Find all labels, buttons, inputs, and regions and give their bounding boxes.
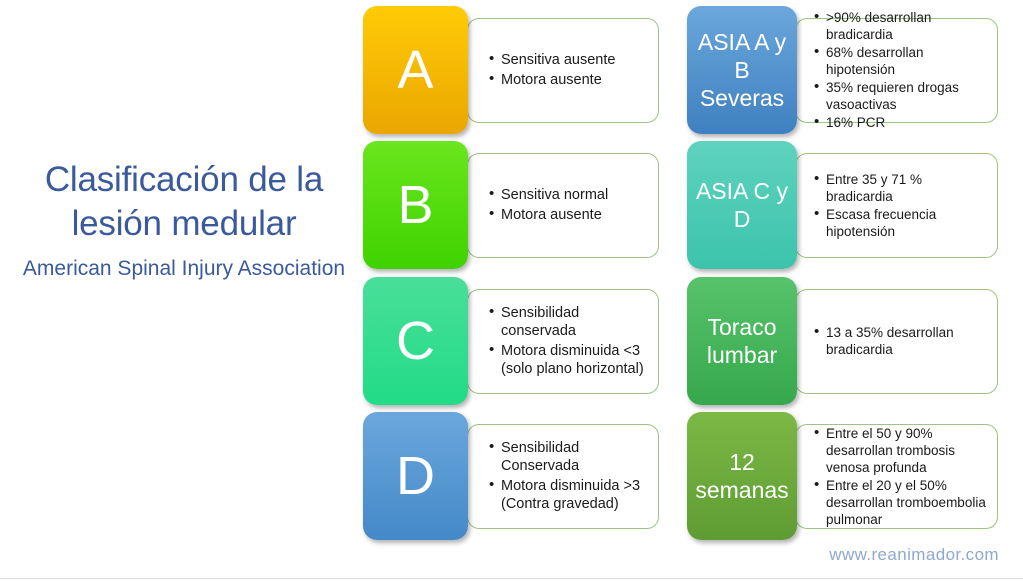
classification-row-a: A Sensitiva ausenteMotora ausente [363, 6, 659, 134]
page-title-subtitle: American Spinal Injury Association [0, 255, 368, 283]
complication-card-toraco-lumbar: 13 a 35% desarrollan bradicardia [795, 289, 998, 394]
bullet-item: 13 a 35% desarrollan bradicardia [816, 324, 987, 358]
bullet-item: Sensibilidad conservada [491, 304, 648, 341]
complication-bullets-asia-ab: >90% desarrollan bradicardia68% desarrol… [796, 9, 997, 132]
complication-chip-12-semanas: 12 semanas [687, 412, 797, 540]
classification-row-b: B Sensitiva normalMotora ausente [363, 141, 659, 269]
classification-row-d: D Sensibilidad ConservadaMotora disminui… [363, 412, 659, 540]
complication-chip-asia-ab: ASIA A y B Severas [687, 6, 797, 134]
site-watermark: www.reanimador.com [829, 545, 999, 565]
bullet-item: Motora ausente [491, 206, 648, 225]
grade-chip-d: D [363, 412, 468, 540]
grade-chip-b-label: B [397, 176, 433, 234]
complication-bullets-toraco-lumbar: 13 a 35% desarrollan bradicardia [796, 324, 997, 359]
complication-bullets-12-semanas: Entre el 50 y 90% desarrollan trombosis … [796, 425, 997, 529]
complication-chip-asia-cd: ASIA C y D [687, 141, 797, 269]
bullet-item: 35% requieren drogas vasoactivas [816, 79, 987, 113]
complication-chip-toraco-lumbar-label: Toraco lumbar [687, 313, 797, 369]
bullet-item: Entre el 50 y 90% desarrollan trombosis … [816, 425, 987, 476]
bullet-item: Motora disminuida <3 (solo plano horizon… [491, 342, 648, 379]
grade-chip-a-label: A [397, 41, 433, 99]
bullet-item: Entre el 20 y el 50% desarrollan tromboe… [816, 477, 987, 528]
bullet-item: Sensibilidad Conservada [491, 439, 648, 476]
bullet-item: 68% desarrollan hipotensión [816, 44, 987, 78]
complication-chip-toraco-lumbar: Toraco lumbar [687, 277, 797, 405]
grade-card-d: Sensibilidad ConservadaMotora disminuida… [467, 424, 659, 529]
complication-row-asia-ab: ASIA A y B Severas >90% desarrollan brad… [687, 6, 998, 134]
grade-bullets-b: Sensitiva normalMotora ausente [468, 186, 658, 225]
classification-row-c: C Sensibilidad conservadaMotora disminui… [363, 277, 659, 405]
complication-card-asia-ab: >90% desarrollan bradicardia68% desarrol… [795, 18, 998, 123]
grade-card-b: Sensitiva normalMotora ausente [467, 153, 659, 258]
bullet-item: Entre 35 y 71 % bradicardia [816, 171, 987, 205]
grade-bullets-c: Sensibilidad conservadaMotora disminuida… [468, 304, 658, 380]
bullet-item: Motora disminuida >3 (Contra gravedad) [491, 477, 648, 514]
bullet-item: Sensitiva ausente [491, 51, 648, 70]
grade-chip-c-label: C [396, 312, 435, 370]
grade-chip-d-label: D [396, 447, 435, 505]
grade-chip-a: A [363, 6, 468, 134]
complication-row-12-semanas: 12 semanas Entre el 50 y 90% desarrollan… [687, 412, 998, 540]
complication-row-toraco-lumbar: Toraco lumbar 13 a 35% desarrollan bradi… [687, 277, 998, 405]
complication-card-12-semanas: Entre el 50 y 90% desarrollan trombosis … [795, 424, 998, 529]
grade-card-a: Sensitiva ausenteMotora ausente [467, 18, 659, 123]
grade-bullets-d: Sensibilidad ConservadaMotora disminuida… [468, 439, 658, 515]
grade-chip-b: B [363, 141, 468, 269]
bullet-item: 16% PCR [816, 114, 987, 131]
bullet-item: >90% desarrollan bradicardia [816, 9, 987, 43]
page-title-main: Clasificación de la lesión medular [0, 158, 368, 246]
grade-bullets-a: Sensitiva ausenteMotora ausente [468, 51, 658, 90]
grade-chip-c: C [363, 277, 468, 405]
bullet-item: Sensitiva normal [491, 186, 648, 205]
grade-card-c: Sensibilidad conservadaMotora disminuida… [467, 289, 659, 394]
page-title: Clasificación de la lesión medular Ameri… [0, 158, 368, 283]
bottom-divider [0, 578, 1023, 579]
complication-bullets-asia-cd: Entre 35 y 71 % bradicardiaEscasa frecue… [796, 171, 997, 241]
complication-chip-asia-cd-label: ASIA C y D [687, 177, 797, 233]
complication-row-asia-cd: ASIA C y D Entre 35 y 71 % bradicardiaEs… [687, 141, 998, 269]
complication-chip-asia-ab-label: ASIA A y B Severas [687, 28, 797, 112]
bullet-item: Motora ausente [491, 71, 648, 90]
bullet-item: Escasa frecuencia hipotensión [816, 206, 987, 240]
complication-chip-12-semanas-label: 12 semanas [687, 448, 797, 504]
complication-card-asia-cd: Entre 35 y 71 % bradicardiaEscasa frecue… [795, 153, 998, 258]
